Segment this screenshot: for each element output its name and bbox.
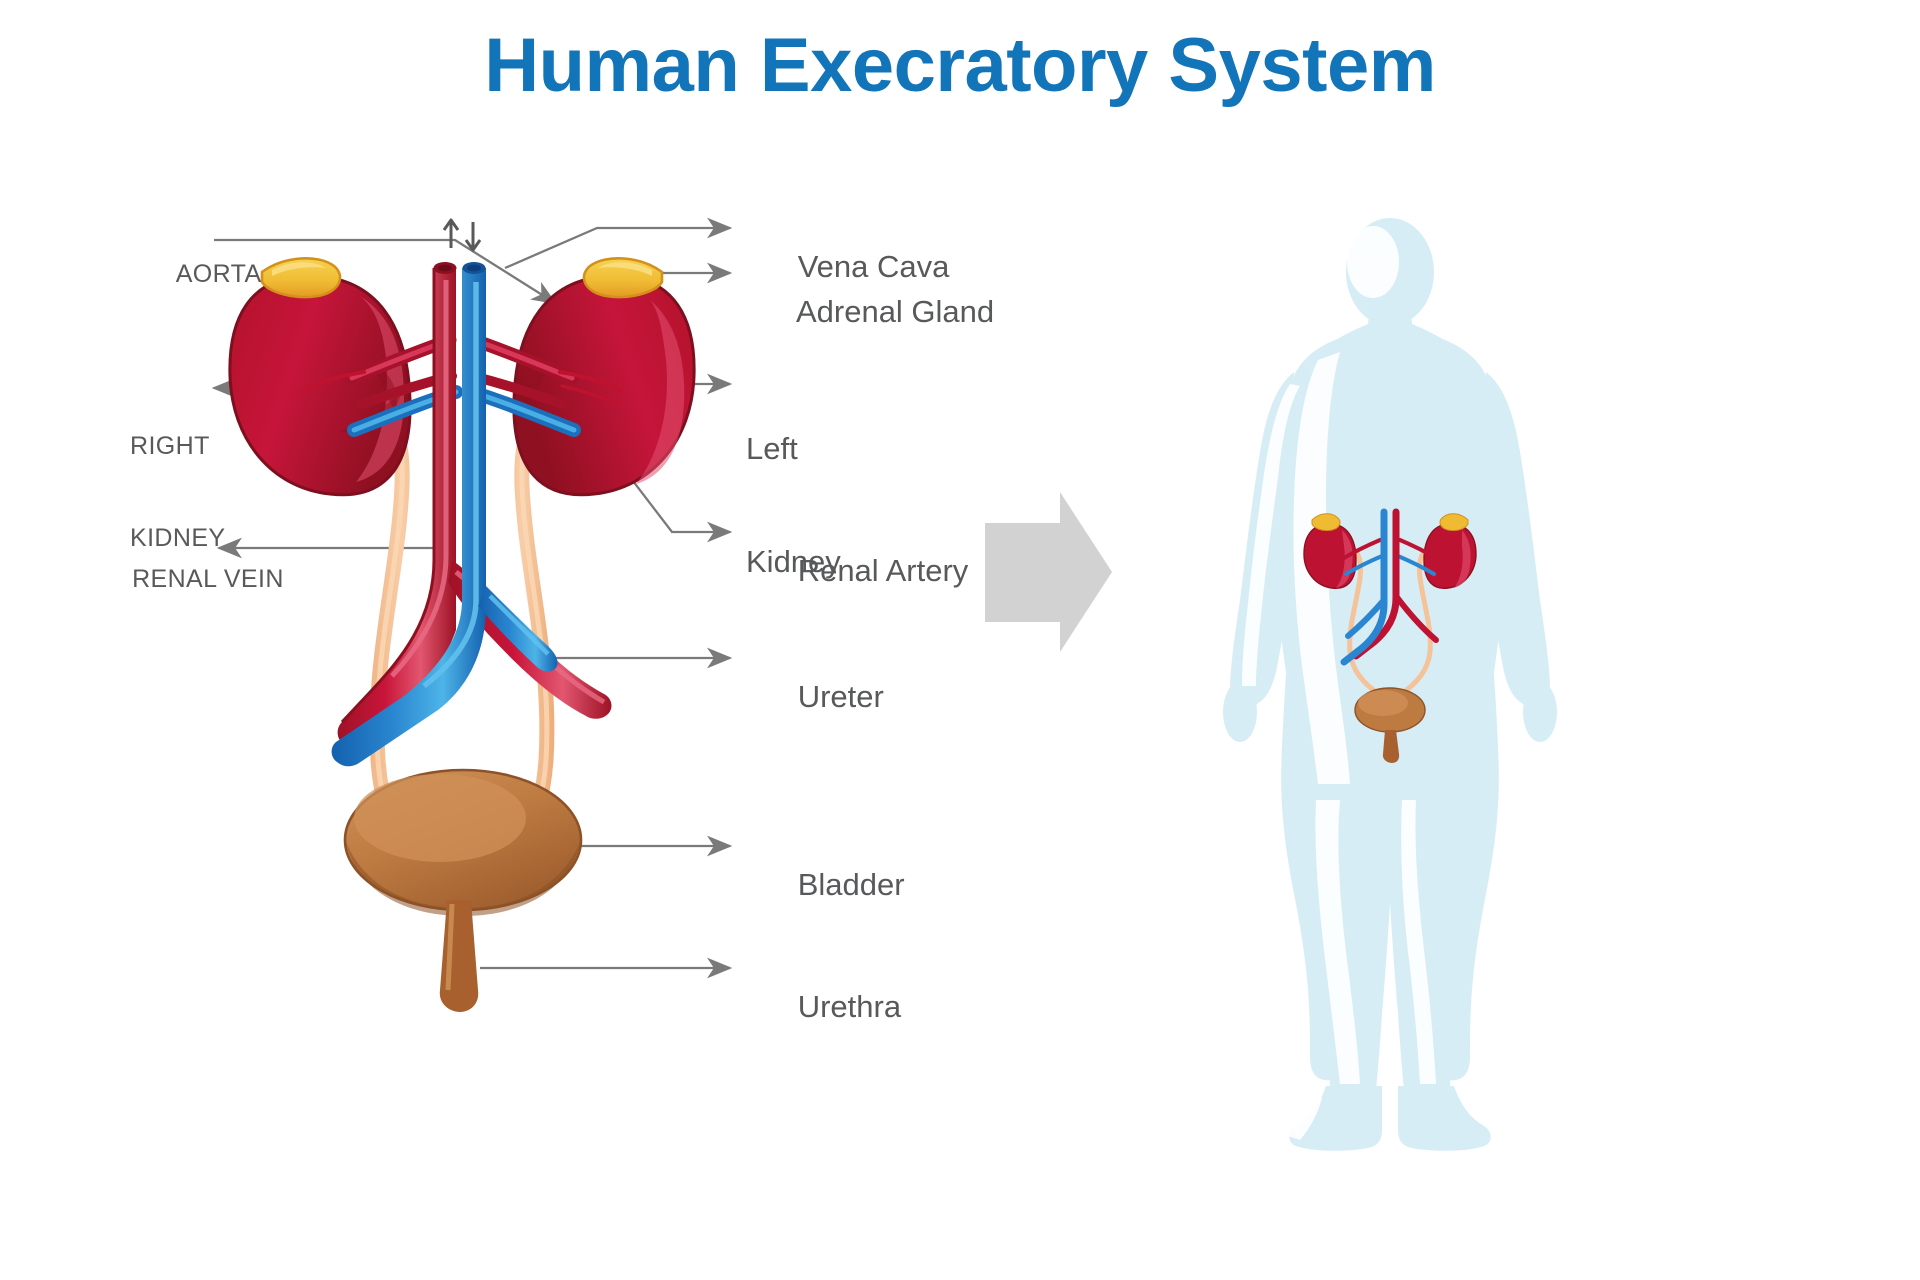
label-layer: AORTA RIGHT KIDNEY RENAL VEIN Vena Cava … [0, 0, 1920, 1280]
label-urethra-text: Urethra [798, 989, 901, 1024]
label-renal-vein-text: RENAL VEIN [132, 565, 284, 593]
label-renal-artery: Renal Artery [746, 516, 968, 626]
poster-root: Human Execratory System [0, 0, 1920, 1280]
label-ureter-text: Ureter [798, 679, 884, 714]
label-renal-artery-text: Renal Artery [798, 553, 969, 588]
label-aorta: AORTA [133, 230, 262, 319]
label-bladder: Bladder [746, 830, 905, 940]
label-urethra: Urethra [746, 952, 901, 1062]
label-aorta-text: AORTA [176, 260, 262, 288]
label-right-kidney-line1: RIGHT [130, 431, 208, 462]
label-bladder-text: Bladder [798, 867, 905, 902]
label-left-kidney-line1: Left [746, 430, 841, 468]
label-adrenal-gland: Adrenal Gland [746, 257, 994, 367]
label-ureter: Ureter [746, 642, 884, 752]
label-renal-vein: RENAL VEIN [88, 535, 284, 624]
label-adrenal-gland-text: Adrenal Gland [796, 294, 994, 329]
